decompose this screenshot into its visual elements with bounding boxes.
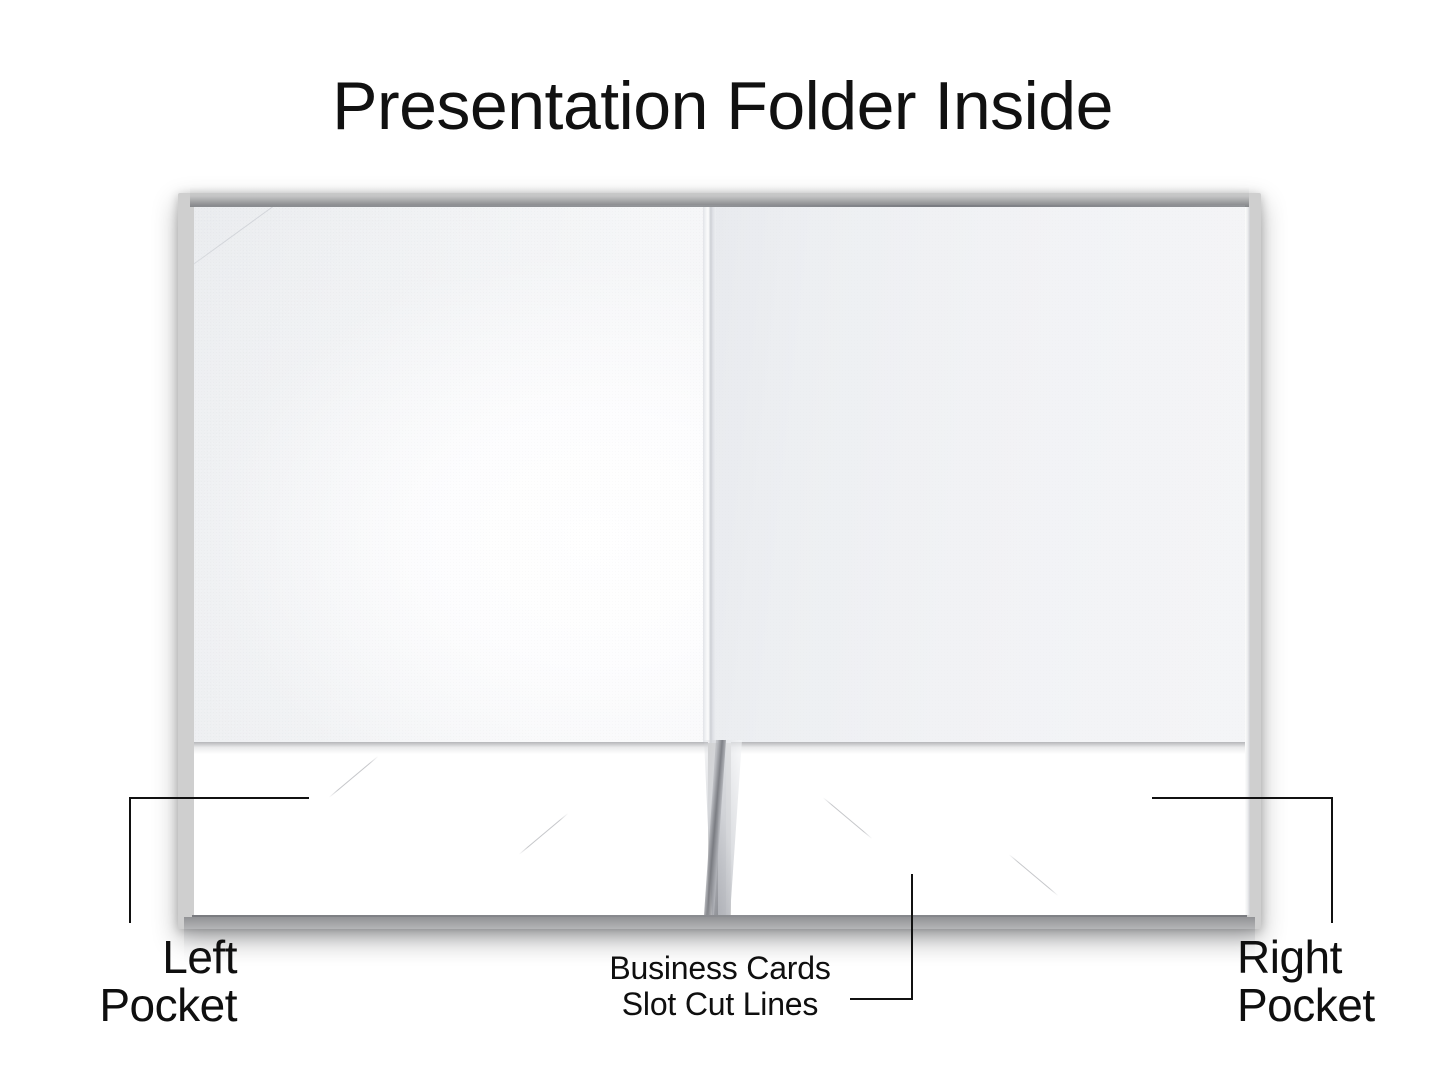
callout-left-pocket-line1: Left <box>99 934 237 982</box>
right-pocket-flap <box>731 742 1245 915</box>
callout-right-pocket-line1: Right <box>1237 934 1375 982</box>
left-pocket-leader-vertical <box>129 797 131 923</box>
right-interior-panel <box>712 207 1245 743</box>
right-pocket-top-shade <box>731 742 1245 754</box>
mockup-canvas: Presentation Folder Inside <box>0 0 1445 1084</box>
folder-interior-panels <box>194 207 1245 743</box>
callout-business-cards-line1: Business Cards <box>575 950 865 986</box>
left-pocket-leader-horizontal <box>129 797 309 799</box>
callout-right-pocket: Right Pocket <box>1237 934 1375 1030</box>
callout-business-cards-line2: Slot Cut Lines <box>575 986 865 1022</box>
right-pocket-leader-horizontal <box>1152 797 1333 799</box>
callout-left-pocket-line2: Pocket <box>99 982 237 1030</box>
right-pocket-leader-vertical <box>1331 797 1333 923</box>
left-interior-panel <box>194 207 708 743</box>
folder-top-edge-line <box>194 205 1245 207</box>
right-panel-paper-texture <box>712 207 1245 743</box>
business-card-slot-cut-line <box>1009 854 1059 896</box>
business-card-slot-cut-line <box>329 756 379 798</box>
left-pocket-flap <box>194 742 708 915</box>
callout-right-pocket-line2: Pocket <box>1237 982 1375 1030</box>
left-panel-paper-texture <box>194 207 708 743</box>
callout-business-cards-slot: Business Cards Slot Cut Lines <box>575 950 865 1023</box>
left-pocket-top-shade <box>194 742 708 754</box>
page-title: Presentation Folder Inside <box>0 72 1445 140</box>
slot-cut-lines-leader-vertical <box>911 874 913 1000</box>
center-fold-spine <box>703 207 716 743</box>
folder-top-edge-shadow <box>190 187 1249 207</box>
folder-right-paper-thickness <box>1245 207 1250 915</box>
business-card-slot-cut-line <box>519 813 569 855</box>
center-v-notch <box>660 740 784 915</box>
callout-left-pocket: Left Pocket <box>99 934 237 1030</box>
folder-pocket-flaps <box>194 742 1245 915</box>
notch-right-face <box>718 740 784 915</box>
business-card-slot-cut-line <box>823 797 873 839</box>
presentation-folder-mockup <box>194 207 1245 915</box>
